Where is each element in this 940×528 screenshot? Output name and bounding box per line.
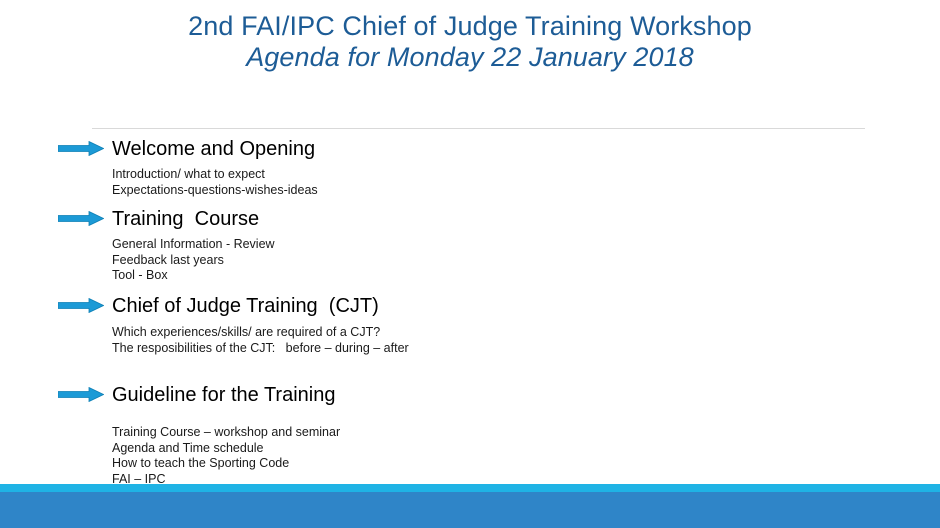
section-bullet-list: Which experiences/skills/ are required o…: [0, 325, 940, 356]
section-bullet-list: Introduction/ what to expect Expectation…: [0, 167, 940, 198]
title-line-secondary: Agenda for Monday 22 January 2018: [0, 43, 940, 72]
list-item: Which experiences/skills/ are required o…: [0, 325, 940, 341]
section-title: Training Course: [112, 206, 259, 233]
section-header: Chief of Judge Training (CJT): [0, 293, 940, 321]
section-title: Chief of Judge Training (CJT): [112, 293, 379, 320]
agenda-list: Welcome and Opening Introduction/ what t…: [0, 136, 940, 528]
list-item: The resposibilities of the CJT: before –…: [0, 341, 940, 357]
section-title: Welcome and Opening: [112, 136, 315, 163]
list-item: Training Course – workshop and seminar: [0, 425, 940, 441]
agenda-section-welcome-and-opening: Welcome and Opening Introduction/ what t…: [0, 136, 940, 198]
agenda-slide: 2nd FAI/IPC Chief of Judge Training Work…: [0, 0, 940, 528]
right-arrow-icon: [58, 298, 104, 313]
header-divider-line: [92, 128, 865, 129]
slide-title: 2nd FAI/IPC Chief of Judge Training Work…: [0, 12, 940, 72]
section-title: Guideline for the Training: [112, 382, 335, 409]
list-item: Introduction/ what to expect: [0, 167, 940, 183]
list-item: Agenda and Time schedule: [0, 441, 940, 457]
list-item: How to teach the Sporting Code: [0, 456, 940, 472]
agenda-section-training-course: Training Course General Information - Re…: [0, 206, 940, 284]
list-item: Expectations-questions-wishes-ideas: [0, 183, 940, 199]
section-header: Guideline for the Training: [0, 382, 940, 410]
title-line-primary: 2nd FAI/IPC Chief of Judge Training Work…: [0, 12, 940, 41]
right-arrow-icon: [58, 211, 104, 226]
list-item: Tool - Box: [0, 268, 940, 284]
list-item: General Information - Review: [0, 237, 940, 253]
section-header: Welcome and Opening: [0, 136, 940, 164]
right-arrow-icon: [58, 141, 104, 156]
section-header: Training Course: [0, 206, 940, 234]
footer-accent-strip: [0, 484, 940, 492]
list-item: Feedback last years: [0, 253, 940, 269]
right-arrow-icon: [58, 387, 104, 402]
agenda-section-chief-of-judge-training: Chief of Judge Training (CJT) Which expe…: [0, 293, 940, 356]
footer-band: [0, 492, 940, 528]
section-bullet-list: General Information - Review Feedback la…: [0, 237, 940, 284]
